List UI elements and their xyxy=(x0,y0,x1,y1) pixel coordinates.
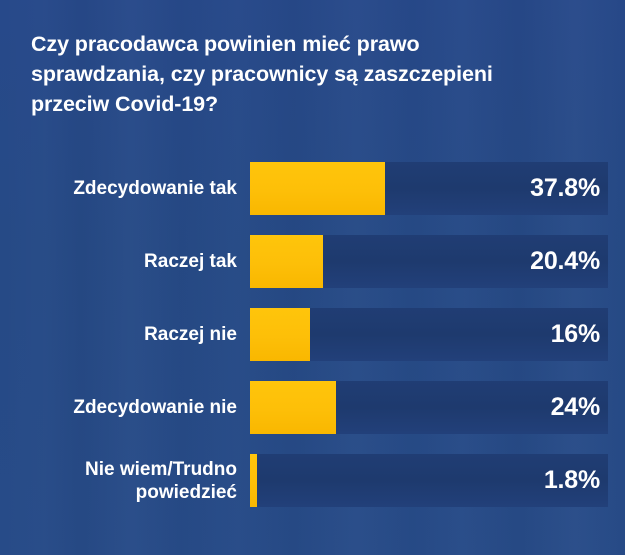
poll-chart-card: Czy pracodawca powinien mieć prawo spraw… xyxy=(0,0,625,555)
bar-value-label: 16% xyxy=(551,308,600,361)
bar-label: Zdecydowanie tak xyxy=(10,177,237,200)
bar-track: 20.4% xyxy=(250,235,608,288)
bar-fill xyxy=(250,381,336,434)
bar-fill xyxy=(250,235,323,288)
bar-label: Raczej tak xyxy=(10,250,237,273)
table-row: Nie wiem/Trudno powiedzieć 1.8% xyxy=(0,454,625,507)
bar-fill xyxy=(250,308,310,361)
bar-chart: Zdecydowanie tak 37.8% Raczej tak 20.4% … xyxy=(0,153,625,523)
bar-value-label: 1.8% xyxy=(544,454,600,507)
bar-label: Zdecydowanie nie xyxy=(10,396,237,419)
bar-track: 16% xyxy=(250,308,608,361)
bar-fill xyxy=(250,454,257,507)
bar-value-label: 20.4% xyxy=(530,235,600,288)
table-row: Raczej tak 20.4% xyxy=(0,235,625,288)
bar-track: 1.8% xyxy=(250,454,608,507)
bar-value-label: 24% xyxy=(551,381,600,434)
table-row: Zdecydowanie nie 24% xyxy=(0,381,625,434)
bar-label: Raczej nie xyxy=(10,323,237,346)
table-row: Zdecydowanie tak 37.8% xyxy=(0,162,625,215)
table-row: Raczej nie 16% xyxy=(0,308,625,361)
bar-track: 37.8% xyxy=(250,162,608,215)
page-title: Czy pracodawca powinien mieć prawo spraw… xyxy=(31,29,597,119)
bar-track: 24% xyxy=(250,381,608,434)
bar-fill xyxy=(250,162,385,215)
bar-label: Nie wiem/Trudno powiedzieć xyxy=(10,458,237,504)
bar-value-label: 37.8% xyxy=(530,162,600,215)
